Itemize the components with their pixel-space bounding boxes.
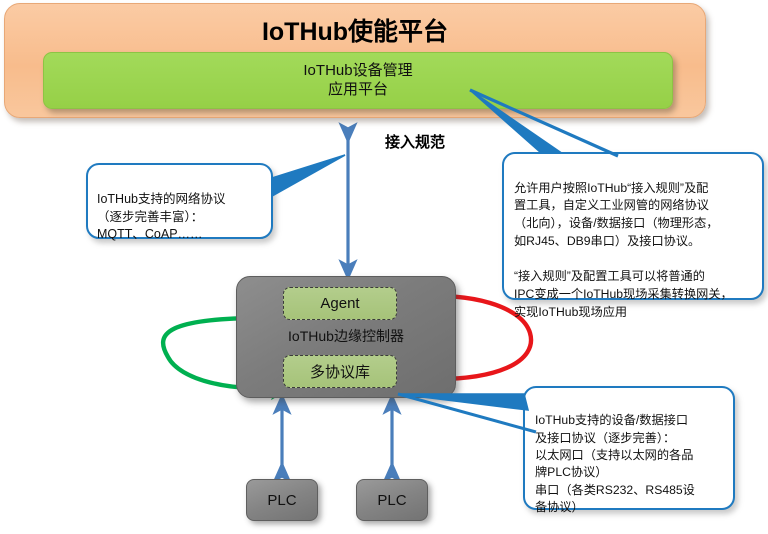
callout-network-protocols: IoTHub支持的网络协议 （逐步完善丰富）： MQTT、CoAP……	[86, 163, 273, 239]
edge-controller-title: IoTHub边缘控制器	[237, 326, 455, 346]
plc-device-right[interactable]: PLC	[356, 479, 428, 521]
callout-access-rules: 允许用户按照IoTHub“接入规则”及配 置工具，自定义工业网管的网络协议 （北…	[502, 152, 764, 300]
protocol-library-module[interactable]: 多协议库	[283, 355, 397, 388]
leader-interfaces-callout	[398, 394, 536, 432]
app-platform-card[interactable]: IoTHub设备管理 应用平台	[43, 52, 673, 109]
callout-device-interfaces-text: IoTHub支持的设备/数据接口 及接口协议（逐步完善）： 以太网口（支持以太网…	[535, 412, 726, 516]
callout-network-protocols-text: IoTHub支持的网络协议 （逐步完善丰富）： MQTT、CoAP……	[97, 191, 264, 244]
iothub-edge-controller[interactable]: Agent IoTHub边缘控制器 多协议库	[236, 276, 456, 398]
app-platform-line2: 应用平台	[328, 81, 388, 99]
diagram-canvas: IoTHub使能平台 IoTHub设备管理 应用平台 接入规范 Agent Io…	[0, 0, 768, 524]
app-platform-line1: IoTHub设备管理	[303, 62, 412, 80]
page-title: IoTHub使能平台	[5, 12, 705, 48]
iothub-platform-container: IoTHub使能平台 IoTHub设备管理 应用平台	[4, 3, 706, 118]
callout-access-rules-text: 允许用户按照IoTHub“接入规则”及配 置工具，自定义工业网管的网络协议 （北…	[514, 180, 754, 322]
access-spec-label: 接入规范	[385, 131, 445, 152]
callout-device-interfaces: IoTHub支持的设备/数据接口 及接口协议（逐步完善）： 以太网口（支持以太网…	[523, 386, 735, 510]
leader-network-callout	[272, 155, 345, 196]
plc-device-left[interactable]: PLC	[246, 479, 318, 521]
agent-module[interactable]: Agent	[283, 287, 397, 320]
